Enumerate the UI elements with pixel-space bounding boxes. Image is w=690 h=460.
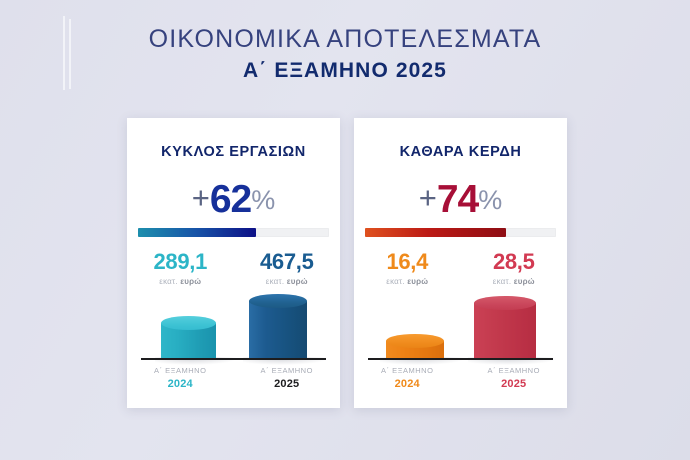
unit-currency: ευρώ — [180, 277, 201, 286]
value-unit: εκατ. ευρώ — [234, 277, 341, 286]
axis-year: 2024 — [127, 378, 234, 390]
unit-prefix: εκατ. — [493, 277, 511, 286]
card-net-profit: ΚΑΘΑΡΑ ΚΕΡΔΗ +74% 16,4 εκατ. ευρώ 28,5 ε… — [354, 118, 567, 408]
axis-year: 2024 — [354, 378, 461, 390]
value-unit: εκατ. ευρώ — [461, 277, 568, 286]
value-unit: εκατ. ευρώ — [354, 277, 461, 286]
card-title: ΚΑΘΑΡΑ ΚΕΡΔΗ — [354, 144, 567, 160]
infographic-canvas: ΟΙΚΟΝΟΜΙΚΑ ΑΠΟΤΕΛΕΣΜΑΤΑ Α΄ ΕΞΑΜΗΝΟ 2025 … — [0, 0, 690, 460]
growth-value: 74 — [437, 178, 478, 221]
unit-prefix: εκατ. — [266, 277, 284, 286]
value-column: 28,5 εκατ. ευρώ — [461, 251, 568, 286]
progress-track — [365, 228, 556, 237]
axis-label-group: Α΄ ΕΞΑΜΗΝΟ 2024 — [354, 366, 461, 390]
value-column: 289,1 εκατ. ευρώ — [127, 251, 234, 286]
growth-percentage: +74% — [354, 180, 567, 219]
growth-sign: + — [419, 180, 437, 215]
page-subtitle: Α΄ ΕΞΑΜΗΝΟ 2025 — [0, 57, 690, 85]
page-title: ΟΙΚΟΝΟΜΙΚΑ ΑΠΟΤΕΛΕΣΜΑΤΑ — [0, 24, 690, 55]
axis-period: Α΄ ΕΞΑΜΗΝΟ — [127, 366, 234, 375]
value-amount: 16,4 — [354, 251, 461, 273]
progress-track — [138, 228, 329, 237]
unit-currency: ευρώ — [407, 277, 428, 286]
bar-2025 — [474, 296, 536, 358]
chart-baseline — [141, 358, 326, 360]
bar-body — [474, 303, 536, 358]
axis-label-group: Α΄ ΕΞΑΜΗΝΟ 2025 — [234, 366, 341, 390]
axis-label-group: Α΄ ΕΞΑΜΗΝΟ 2025 — [461, 366, 568, 390]
header: ΟΙΚΟΝΟΜΙΚΑ ΑΠΟΤΕΛΕΣΜΑΤΑ Α΄ ΕΞΑΜΗΝΟ 2025 — [0, 24, 690, 86]
bar-2024 — [386, 334, 444, 358]
card-revenue: ΚΥΚΛΟΣ ΕΡΓΑΣΙΩΝ +62% 289,1 εκατ. ευρώ 46… — [127, 118, 340, 408]
axis-year: 2025 — [234, 378, 341, 390]
chart-baseline — [368, 358, 553, 360]
unit-prefix: εκατ. — [386, 277, 404, 286]
bar-2024 — [161, 316, 216, 358]
value-amount: 28,5 — [461, 251, 568, 273]
value-amount: 289,1 — [127, 251, 234, 273]
value-column: 16,4 εκατ. ευρώ — [354, 251, 461, 286]
axis-labels: Α΄ ΕΞΑΜΗΝΟ 2024 Α΄ ΕΞΑΜΗΝΟ 2025 — [127, 366, 340, 390]
progress-fill — [365, 228, 506, 237]
growth-sign: + — [192, 180, 210, 215]
axis-labels: Α΄ ΕΞΑΜΗΝΟ 2024 Α΄ ΕΞΑΜΗΝΟ 2025 — [354, 366, 567, 390]
axis-label-group: Α΄ ΕΞΑΜΗΝΟ 2024 — [127, 366, 234, 390]
axis-period: Α΄ ΕΞΑΜΗΝΟ — [354, 366, 461, 375]
growth-percentage: +62% — [127, 180, 340, 219]
value-amount: 467,5 — [234, 251, 341, 273]
unit-prefix: εκατ. — [159, 277, 177, 286]
value-column: 467,5 εκατ. ευρώ — [234, 251, 341, 286]
value-labels: 16,4 εκατ. ευρώ 28,5 εκατ. ευρώ — [354, 251, 567, 286]
bar-chart — [354, 290, 567, 360]
bar-body — [249, 301, 307, 358]
value-labels: 289,1 εκατ. ευρώ 467,5 εκατ. ευρώ — [127, 251, 340, 286]
axis-year: 2025 — [461, 378, 568, 390]
unit-currency: ευρώ — [287, 277, 308, 286]
axis-period: Α΄ ΕΞΑΜΗΝΟ — [234, 366, 341, 375]
bar-2025 — [249, 294, 307, 358]
growth-percent-symbol: % — [478, 185, 502, 215]
progress-fill — [138, 228, 256, 237]
growth-percent-symbol: % — [251, 185, 275, 215]
value-unit: εκατ. ευρώ — [127, 277, 234, 286]
card-title: ΚΥΚΛΟΣ ΕΡΓΑΣΙΩΝ — [127, 144, 340, 160]
bar-chart — [127, 290, 340, 360]
axis-period: Α΄ ΕΞΑΜΗΝΟ — [461, 366, 568, 375]
growth-value: 62 — [210, 178, 251, 221]
unit-currency: ευρώ — [514, 277, 535, 286]
